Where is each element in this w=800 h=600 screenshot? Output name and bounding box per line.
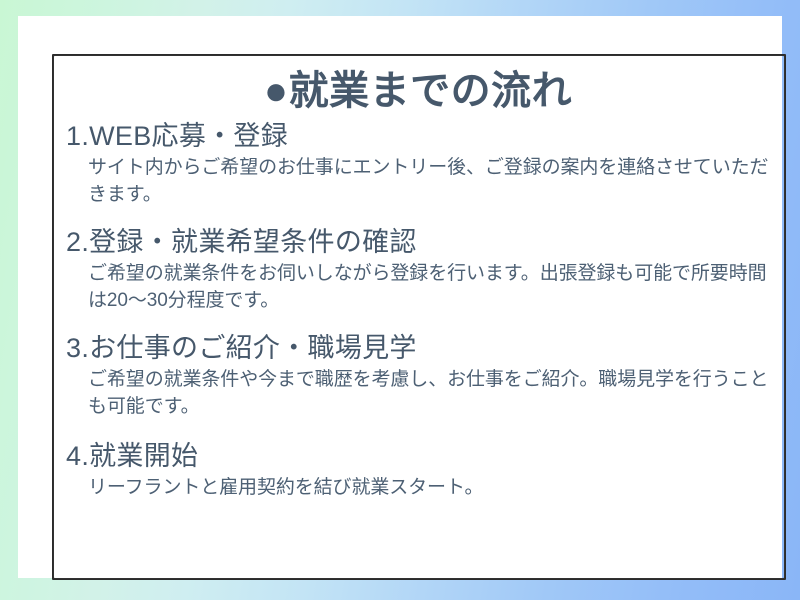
step-body-1: サイト内からご希望のお仕事にエントリー後、ご登録の案内を連絡させていただきます。 [88, 154, 770, 208]
step-item-4: 4.就業開始 リーフラントと雇用契約を結び就業スタート。 [66, 438, 770, 501]
content-area: ●就業までの流れ 1.WEB応募・登録 サイト内からご希望のお仕事にエントリー後… [54, 56, 784, 578]
step-heading-3: 3.お仕事のご紹介・職場見学 [66, 330, 770, 366]
step-heading-2: 2.登録・就業希望条件の確認 [66, 224, 770, 260]
step-body-3: ご希望の就業条件や今まで職歴を考慮し、お仕事をご紹介。職場見学を行うことも可能で… [88, 366, 770, 420]
white-card: ●就業までの流れ 1.WEB応募・登録 サイト内からご希望のお仕事にエントリー後… [18, 16, 782, 578]
page-title: ●就業までの流れ [66, 66, 770, 116]
step-body-4: リーフラントと雇用契約を結び就業スタート。 [88, 474, 770, 501]
step-item-3: 3.お仕事のご紹介・職場見学 ご希望の就業条件や今まで職歴を考慮し、お仕事をご紹… [66, 330, 770, 420]
step-item-1: 1.WEB応募・登録 サイト内からご希望のお仕事にエントリー後、ご登録の案内を連… [66, 118, 770, 208]
step-heading-4: 4.就業開始 [66, 438, 770, 474]
step-heading-1: 1.WEB応募・登録 [66, 118, 770, 154]
step-item-2: 2.登録・就業希望条件の確認 ご希望の就業条件をお伺いしながら登録を行います。出… [66, 224, 770, 314]
page-root: ●就業までの流れ 1.WEB応募・登録 サイト内からご希望のお仕事にエントリー後… [0, 0, 800, 600]
step-body-2: ご希望の就業条件をお伺いしながら登録を行います。出張登録も可能で所要時間は20〜… [88, 260, 770, 314]
